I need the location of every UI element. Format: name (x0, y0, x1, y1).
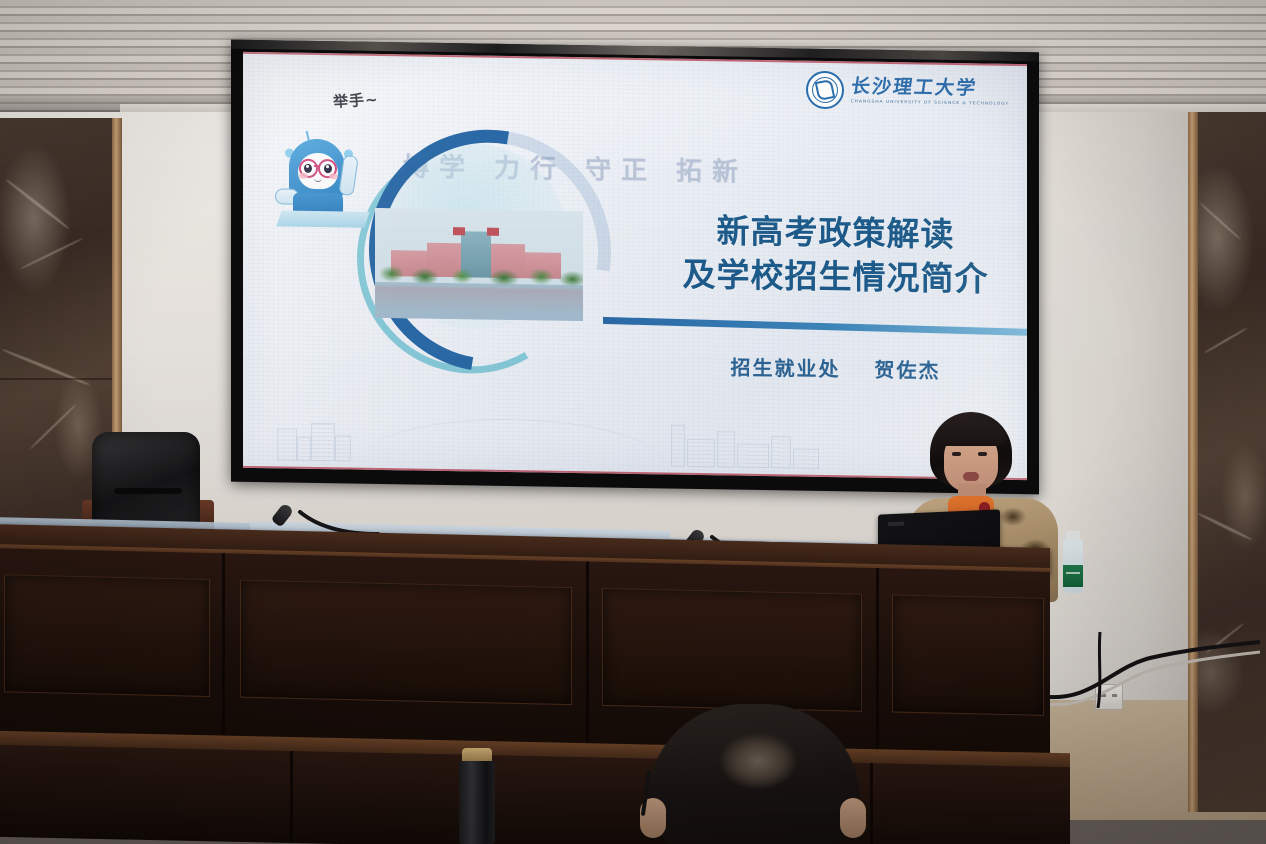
audience-head-back-view (648, 704, 860, 844)
presentation-room-photo: 长沙理工大学 CHANGSHA UNIVERSITY OF SCIENCE & … (0, 0, 1266, 844)
presenter-line: 招生就业处贺佐杰 (658, 350, 1013, 385)
slide-title-line-2: 及学校招生情况简介 (658, 252, 1013, 301)
slide-title: 新高考政策解读 及学校招生情况简介 (658, 208, 1013, 301)
title-divider (603, 317, 1027, 336)
university-seal-icon (806, 71, 844, 110)
university-name-en: CHANGSHA UNIVERSITY OF SCIENCE & TECHNOL… (851, 99, 1009, 106)
slide-top-accent-line (243, 52, 1027, 66)
campus-photo (375, 208, 583, 321)
university-name-cn: 长沙理工大学 (849, 77, 1010, 98)
campus-ring-graphic (355, 122, 595, 376)
blue-hooded-mascot-icon (271, 114, 367, 226)
mascot-speech-text: 举手~ (332, 88, 379, 111)
presenter-department: 招生就业处 (731, 356, 841, 382)
black-thermos-flask (458, 748, 496, 844)
floor-cable-run (1040, 612, 1260, 708)
university-logo: 长沙理工大学 CHANGSHA UNIVERSITY OF SCIENCE & … (806, 71, 1009, 112)
plastic-water-bottle (1062, 531, 1084, 593)
conference-desk-front (0, 548, 1050, 762)
slide-title-line-1: 新高考政策解读 (658, 208, 1013, 257)
presenter-name: 贺佐杰 (875, 358, 941, 383)
